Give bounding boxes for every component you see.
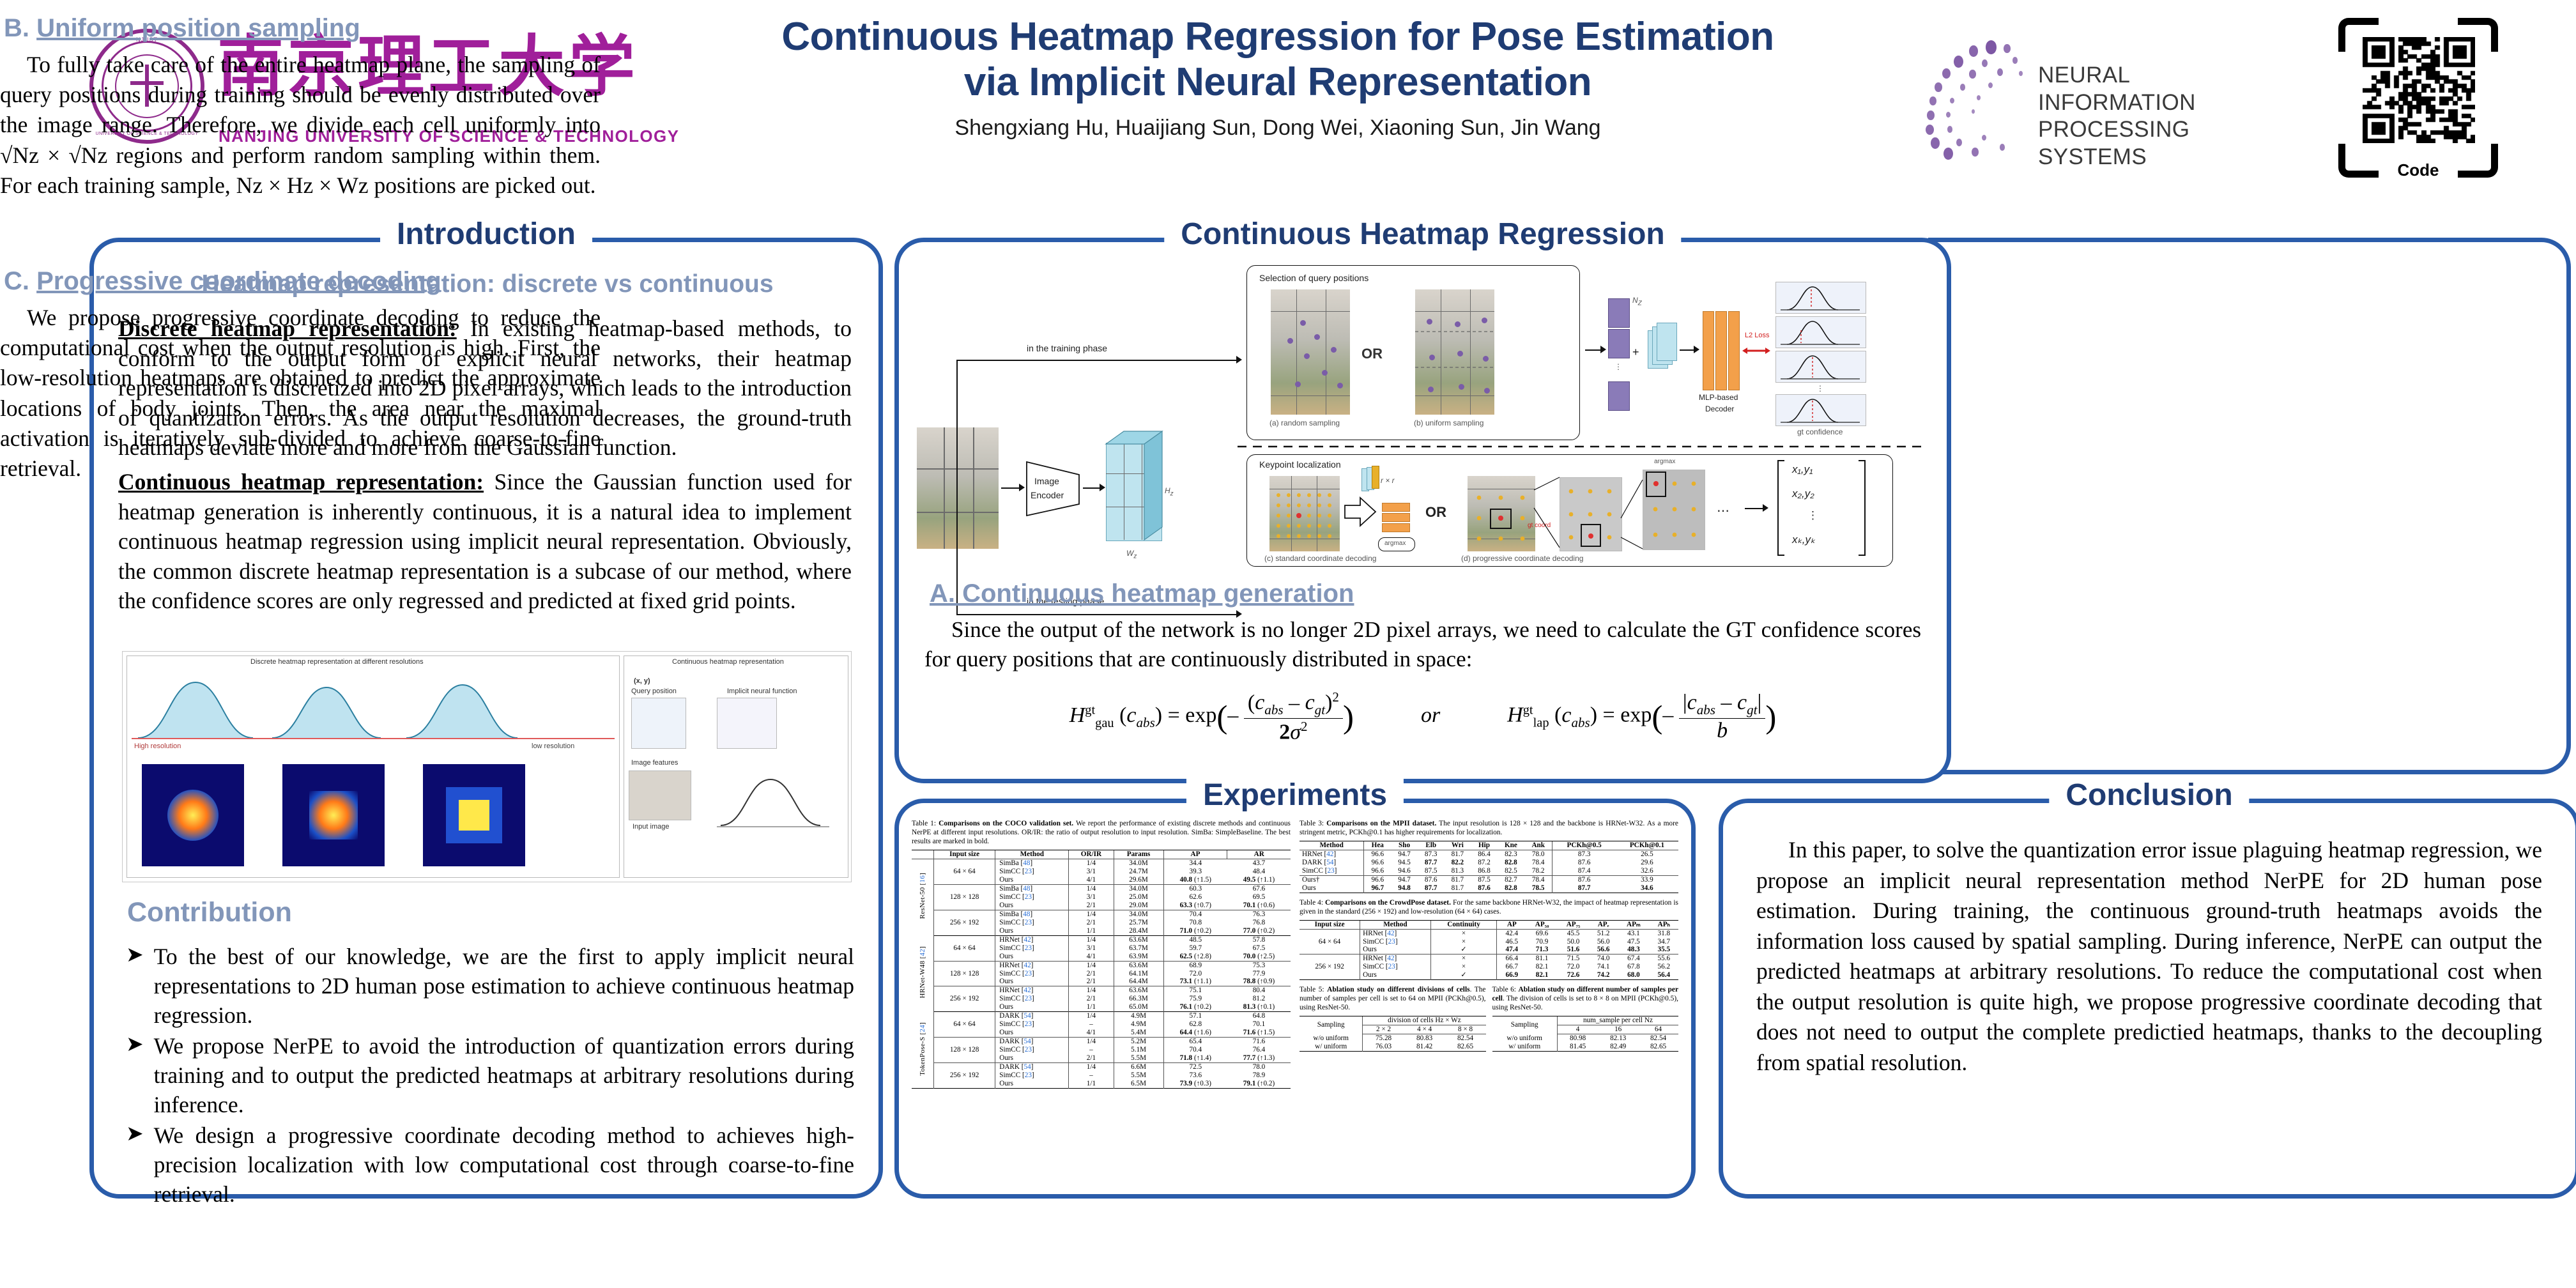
image-encoder-label: Image xyxy=(1034,476,1059,486)
figure-label-image-features: Image features xyxy=(631,759,678,767)
section-a-text-span: Since the output of the network is no lo… xyxy=(924,617,1921,671)
figure-label-xy: (x, y) xyxy=(634,677,650,685)
table3-caption: Table 3: Comparisons on the MPII dataset… xyxy=(1299,820,1678,838)
figure-continuous-caption: Continuous heatmap representation xyxy=(672,658,784,666)
table5-wrap: Table 5: Ablation study on different div… xyxy=(1299,986,1486,1052)
image-encoder-icon xyxy=(1024,459,1082,518)
heatmap-formula: Hgtgau (cabs) = exp(– (cabs – cgt)22σ2) … xyxy=(924,689,1921,744)
or-label-training: OR xyxy=(1361,346,1383,362)
bullet-arrow-icon: ➤ xyxy=(126,942,144,1030)
table1: Input sizeMethodOR/IRParamsAPARResNet-50… xyxy=(912,850,1291,1089)
bullet-arrow-icon: ➤ xyxy=(126,1031,144,1119)
continuous-representation-paragraph: Continuous heatmap representation: Since… xyxy=(118,467,852,616)
experiments-panel-title: Experiments xyxy=(1186,778,1404,813)
image-encoder-label-2: Encoder xyxy=(1031,490,1064,500)
hz-label: Hz xyxy=(1165,486,1174,497)
table1-caption-prefix: Table 1: xyxy=(912,820,939,827)
coord-2: x₂,y₂ xyxy=(1792,487,1814,500)
continuous-heatmap-regression-panel: Continuous Heatmap Regression Image Enco… xyxy=(894,238,1951,783)
mlp-layer-1 xyxy=(1703,311,1714,390)
qr-matrix-icon xyxy=(2363,37,2475,143)
mlp-decoder-label: MLP-based xyxy=(1699,393,1738,402)
phase-separator-icon xyxy=(1238,445,1928,448)
section-c-heading-text: Progressive coordinate decoding xyxy=(36,267,441,295)
coord-ellipsis: ⋮ xyxy=(1807,509,1818,522)
experiments-panel: Experiments Table 1: Comparisons on the … xyxy=(894,799,1696,1199)
section-b-prefix: B. xyxy=(4,14,29,42)
rxr-label: r × r xyxy=(1381,476,1395,485)
table3-caption-prefix: Table 3: xyxy=(1299,820,1326,827)
gt-conf-curves-icon xyxy=(1775,282,1865,426)
conclusion-panel: Conclusion In this paper, to solve the q… xyxy=(1719,799,2576,1199)
or-label-testing: OR xyxy=(1425,504,1446,521)
heatmap-high-res-icon xyxy=(142,764,244,866)
gt-confidence-label: gt confidence xyxy=(1797,427,1843,436)
input-image-thumbnail xyxy=(917,427,999,549)
mlp-layer-3 xyxy=(1728,311,1740,390)
table3-caption-bold: Comparisons on the MPII dataset. xyxy=(1326,820,1436,827)
figure-label-low-resolution: low resolution xyxy=(532,742,574,750)
title-block: Continuous Heatmap Regression for Pose E… xyxy=(677,14,1878,141)
figure-input-image-thumb xyxy=(629,770,691,820)
argmax-label: argmax xyxy=(1384,540,1406,547)
introduction-panel-title: Introduction xyxy=(380,217,592,252)
uniform-grid-dashes-icon xyxy=(1415,289,1494,415)
neurips-logo: NEURAL INFORMATION PROCESSING SYSTEMS xyxy=(1910,29,2268,150)
neurips-wordmark: NEURAL INFORMATION PROCESSING SYSTEMS xyxy=(2038,62,2268,171)
figure-implicit-network xyxy=(717,698,777,749)
method-right-panel-border xyxy=(1928,238,2571,774)
random-sampling-caption: (a) random sampling xyxy=(1269,418,1340,427)
contribution-bullet-2: ➤ We propose NerPE to avoid the introduc… xyxy=(126,1031,854,1119)
standard-dense-grid-icon xyxy=(1269,476,1340,551)
table6: Samplingnum_sample per cell Nᴢ41664w/o u… xyxy=(1492,1016,1679,1052)
training-phase-label: in the training phase xyxy=(1027,343,1107,353)
table3: MethodHeaShoElbWriHipKneAnkPCKh@0.5PCKh@… xyxy=(1299,841,1678,893)
neurips-line-1: NEURAL INFORMATION xyxy=(2038,62,2268,116)
section-b-text-span: To fully take care of the entire heatmap… xyxy=(0,52,601,198)
formula-gaussian: Hgtgau (cabs) = exp(– (cabs – cgt)22σ2) xyxy=(1069,689,1354,744)
section-a-heading: A. Continuous heatmap generation xyxy=(930,579,1354,608)
section-c-text-span: We propose progressive coordinate decodi… xyxy=(0,305,601,481)
mlp-decoder-label-2: Decoder xyxy=(1705,404,1734,413)
heatmap-mid-res-icon xyxy=(282,764,385,866)
nz-label: NZ xyxy=(1632,296,1642,307)
table5-caption-bold: Ablation study on different divisions of… xyxy=(1327,986,1469,993)
table4-caption: Table 4: Comparisons on the CrowdPose da… xyxy=(1299,899,1678,917)
coordinate-matrix-icon xyxy=(1775,458,1871,560)
neurips-line-2: PROCESSING SYSTEMS xyxy=(2038,116,2268,171)
l2-loss-double-arrow-icon xyxy=(1742,343,1770,358)
formula-or-label: or xyxy=(1421,703,1440,727)
table6-caption: Table 6: Ablation study on different num… xyxy=(1492,986,1679,1013)
standard-decoding-caption: (c) standard coordinate decoding xyxy=(1264,554,1376,563)
bullet-arrow-icon: ➤ xyxy=(126,1121,144,1209)
keypoint-localization-title: Keypoint localization xyxy=(1259,459,1341,470)
table4-caption-bold: Comparisons on the CrowdPose dataset. xyxy=(1325,899,1451,907)
table1-caption-bold: Comparisons on the COCO validation set. xyxy=(939,820,1073,827)
contribution-bullet-1: ➤ To the best of our knowledge, we are t… xyxy=(126,942,854,1030)
introduction-figure: Discrete heatmap representation at diffe… xyxy=(122,651,852,882)
conclusion-text: In this paper, to solve the quantization… xyxy=(1756,835,2542,1078)
tables-5-6-row: Table 5: Ablation study on different div… xyxy=(1299,986,1678,1052)
block-arrow-icon xyxy=(1344,495,1378,528)
contribution-bullet-3: ➤ We design a progressive coordinate dec… xyxy=(126,1121,854,1209)
figure-discrete-caption: Discrete heatmap representation at diffe… xyxy=(250,658,424,666)
figure-label-query-position: Query position xyxy=(631,687,677,695)
author-list: Shengxiang Hu, Huaijiang Sun, Dong Wei, … xyxy=(677,116,1878,141)
chr-panel-title: Continuous Heatmap Regression xyxy=(1164,217,1681,252)
section-b-heading-text: Uniform position sampling xyxy=(36,14,360,42)
contribution-bullet-1-text: To the best of our knowledge, we are the… xyxy=(154,942,854,1030)
pipeline-diagram: Image Encoder Hz Wz in the training phas… xyxy=(914,256,1930,568)
mlp-layer-2 xyxy=(1715,311,1727,390)
argmax-label-progressive: argmax xyxy=(1654,458,1675,465)
plus-sign-icon: + xyxy=(1632,346,1639,359)
contribution-bullet-2-text: We propose NerPE to avoid the introducti… xyxy=(154,1031,854,1119)
table4: Input sizeMethodContinuityAPAP₅₀AP₇₅APₑA… xyxy=(1299,920,1678,981)
tables-right-column: Table 3: Comparisons on the MPII dataset… xyxy=(1299,820,1678,1177)
l2-loss-label: L2 Loss xyxy=(1745,332,1770,339)
figure-label-input-image: Input image xyxy=(632,823,669,831)
table5-caption-prefix: Table 5: xyxy=(1299,986,1327,993)
section-b-heading: B. Uniform position sampling xyxy=(4,14,360,43)
contribution-heading: Contribution xyxy=(127,897,292,928)
table1-column: Table 1: Comparisons on the COCO validat… xyxy=(912,820,1291,1177)
figure-continuous-gaussian-icon xyxy=(717,770,832,834)
page-title: Continuous Heatmap Regression for Pose E… xyxy=(677,14,1878,105)
heatmap-low-res-icon xyxy=(423,764,525,866)
experiments-tables-container: Table 1: Comparisons on the COCO validat… xyxy=(912,820,1678,1177)
figure-label-implicit-function: Implicit neural function xyxy=(727,687,797,695)
section-c-heading: C. Progressive coordinate decoding xyxy=(4,267,441,296)
table6-caption-prefix: Table 6: xyxy=(1492,986,1519,993)
figure-label-high-resolution: High resolution xyxy=(134,742,181,750)
contribution-bullet-3-text: We design a progressive coordinate decod… xyxy=(154,1121,854,1209)
title-line-1: Continuous Heatmap Regression for Pose E… xyxy=(677,14,1878,59)
table5: Samplingdivision of cells Hᴢ × Wᴢ2 × 24 … xyxy=(1299,1016,1486,1052)
table1-caption: Table 1: Comparisons on the COCO validat… xyxy=(912,820,1291,847)
coord-k: xₖ,yₖ xyxy=(1792,533,1815,546)
table5-caption: Table 5: Ablation study on different div… xyxy=(1299,986,1486,1013)
zoom-connector-lines-icon xyxy=(1483,467,1713,556)
section-c-text: We propose progressive coordinate decodi… xyxy=(0,303,601,484)
table4-caption-prefix: Table 4: xyxy=(1299,899,1325,907)
ellipsis-icon: ⋯ xyxy=(1717,503,1729,519)
conclusion-panel-title: Conclusion xyxy=(2049,778,2249,813)
figure-query-grid xyxy=(631,698,686,749)
section-b-text: To fully take care of the entire heatmap… xyxy=(0,50,601,201)
query-selection-title: Selection of query positions xyxy=(1259,273,1368,283)
qr-code[interactable]: Code xyxy=(2338,18,2498,178)
table6-wrap: Table 6: Ablation study on different num… xyxy=(1492,986,1679,1052)
neurips-dots-icon xyxy=(1910,29,2035,150)
progressive-decoding-caption: (d) progressive coordinate decoding xyxy=(1461,554,1583,563)
table6-caption-rest: . The division of cells is set to 8 × 8 … xyxy=(1492,995,1679,1011)
qr-label: Code xyxy=(2338,160,2498,180)
coord-1: x₁,y₁ xyxy=(1792,463,1813,476)
uniform-sampling-caption: (b) uniform sampling xyxy=(1414,418,1483,427)
conclusion-text-span: In this paper, to solve the quantization… xyxy=(1756,837,2542,1075)
formula-laplace: Hgtlap (cabs) = exp(– |cabs – cgt|b) xyxy=(1507,691,1776,743)
section-c-prefix: C. xyxy=(4,267,29,295)
gaussian-curves-icon xyxy=(132,671,615,741)
wz-label: Wz xyxy=(1126,549,1137,560)
section-a-text: Since the output of the network is no lo… xyxy=(924,615,1921,673)
title-line-2: via Implicit Neural Representation xyxy=(677,59,1878,105)
